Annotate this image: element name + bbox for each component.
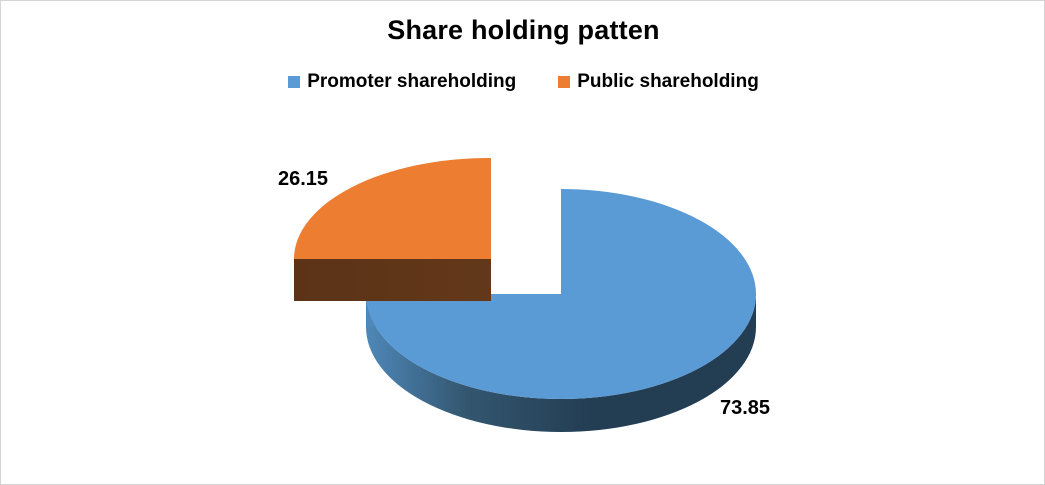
pie-slice-public-side (294, 259, 491, 301)
data-label-promoter: 73.85 (720, 397, 770, 420)
chart-container: Share holding patten Promoter shareholdi… (0, 0, 1045, 485)
data-label-public: 26.15 (278, 168, 328, 191)
pie-chart-graphic (1, 1, 1045, 485)
